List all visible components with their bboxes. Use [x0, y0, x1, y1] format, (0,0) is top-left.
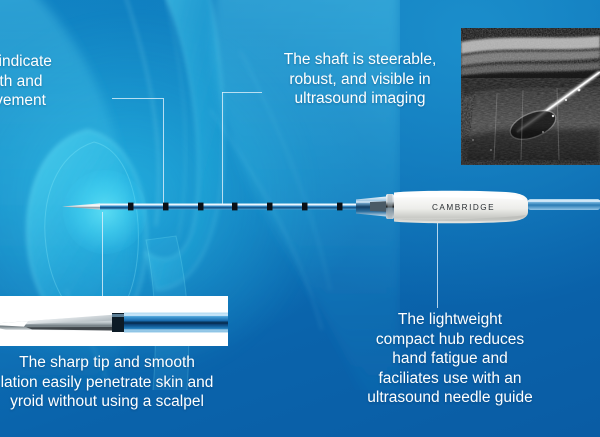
needle-tip-closeup-inset [0, 296, 228, 346]
callout-depth-markings: marks indicate on depth and de movement [0, 52, 157, 111]
infographic-canvas: CAMBRIDGE [0, 0, 600, 437]
callout-shaft: The shaft is steerable, robust, and visi… [262, 50, 458, 109]
callout-hub: The lightweight compact hub reduces hand… [352, 310, 548, 408]
ablation-needle-device: CAMBRIDGE [0, 180, 600, 236]
leader-line-shaft-horizontal [222, 92, 262, 93]
callout-sharp-tip: The sharp tip and smooth lation easily p… [0, 353, 252, 412]
ultrasound-image-inset [461, 28, 600, 165]
hub-brand-label: CAMBRIDGE [432, 203, 495, 212]
